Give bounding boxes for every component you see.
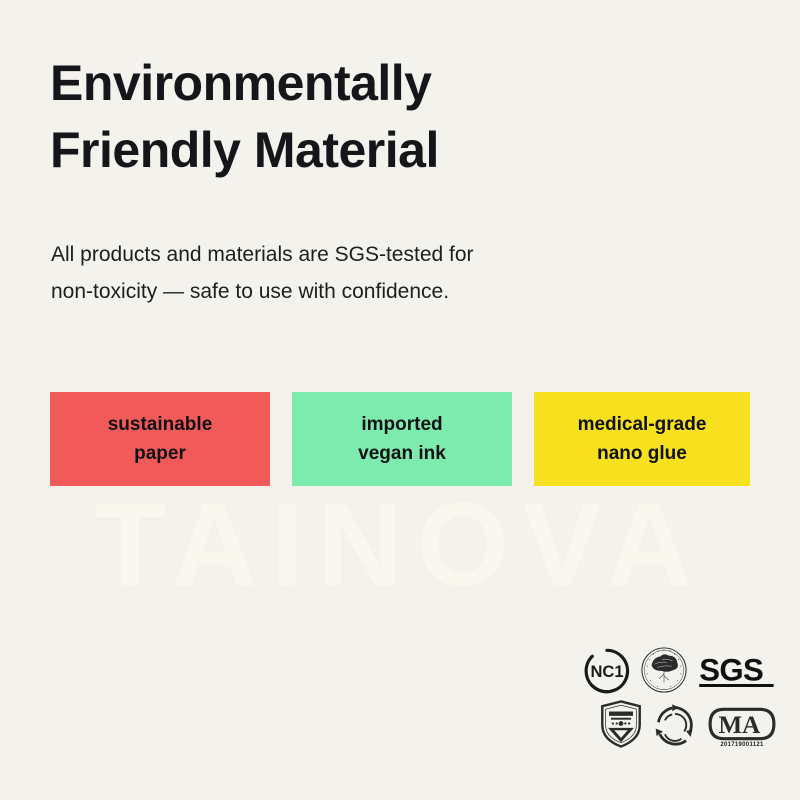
certification-row-bottom: MA 201719001121 (568, 700, 776, 748)
material-badge-label-line-2: nano glue (597, 439, 687, 468)
svg-text:SGS: SGS (699, 652, 763, 687)
svg-text:MA: MA (718, 712, 760, 739)
page-content: Environmentally Friendly Material All pr… (0, 0, 800, 800)
material-badge-label-line-2: vegan ink (358, 439, 446, 468)
page-title-line-2: Friendly Material (50, 117, 670, 184)
material-badge-label-line-1: medical-grade (578, 410, 707, 439)
nc1-icon: NC1 (584, 648, 630, 694)
material-badge-imported-vegan-ink: imported vegan ink (292, 392, 512, 486)
material-badge-medical-grade-nano-glue: medical-grade nano glue (534, 392, 750, 486)
material-badge-label-line-2: paper (134, 439, 186, 468)
material-badge-sustainable-paper: sustainable paper (50, 392, 270, 486)
page-title-line-1: Environmentally (50, 50, 670, 117)
certification-row-top: NC1 (568, 646, 776, 694)
sgs-icon: SGS (698, 650, 776, 694)
tree-seal-icon (640, 646, 688, 694)
material-badge-label-line-1: imported (361, 410, 442, 439)
recycling-icon (652, 702, 698, 748)
shield-icon (600, 700, 642, 748)
material-badge-row: sustainable paper imported vegan ink med… (50, 392, 750, 486)
cma-icon: MA 201719001121 (708, 707, 776, 748)
cma-code: 201719001121 (720, 742, 763, 748)
material-badge-label-line-1: sustainable (108, 410, 213, 439)
page-subtitle-line-2: non-toxicity — safe to use with confiden… (51, 273, 651, 310)
svg-text:NC1: NC1 (590, 662, 623, 681)
page-subtitle: All products and materials are SGS-teste… (51, 236, 651, 311)
certification-marks: NC1 (568, 646, 776, 748)
page-subtitle-line-1: All products and materials are SGS-teste… (51, 236, 651, 273)
page-title: Environmentally Friendly Material (50, 50, 670, 184)
